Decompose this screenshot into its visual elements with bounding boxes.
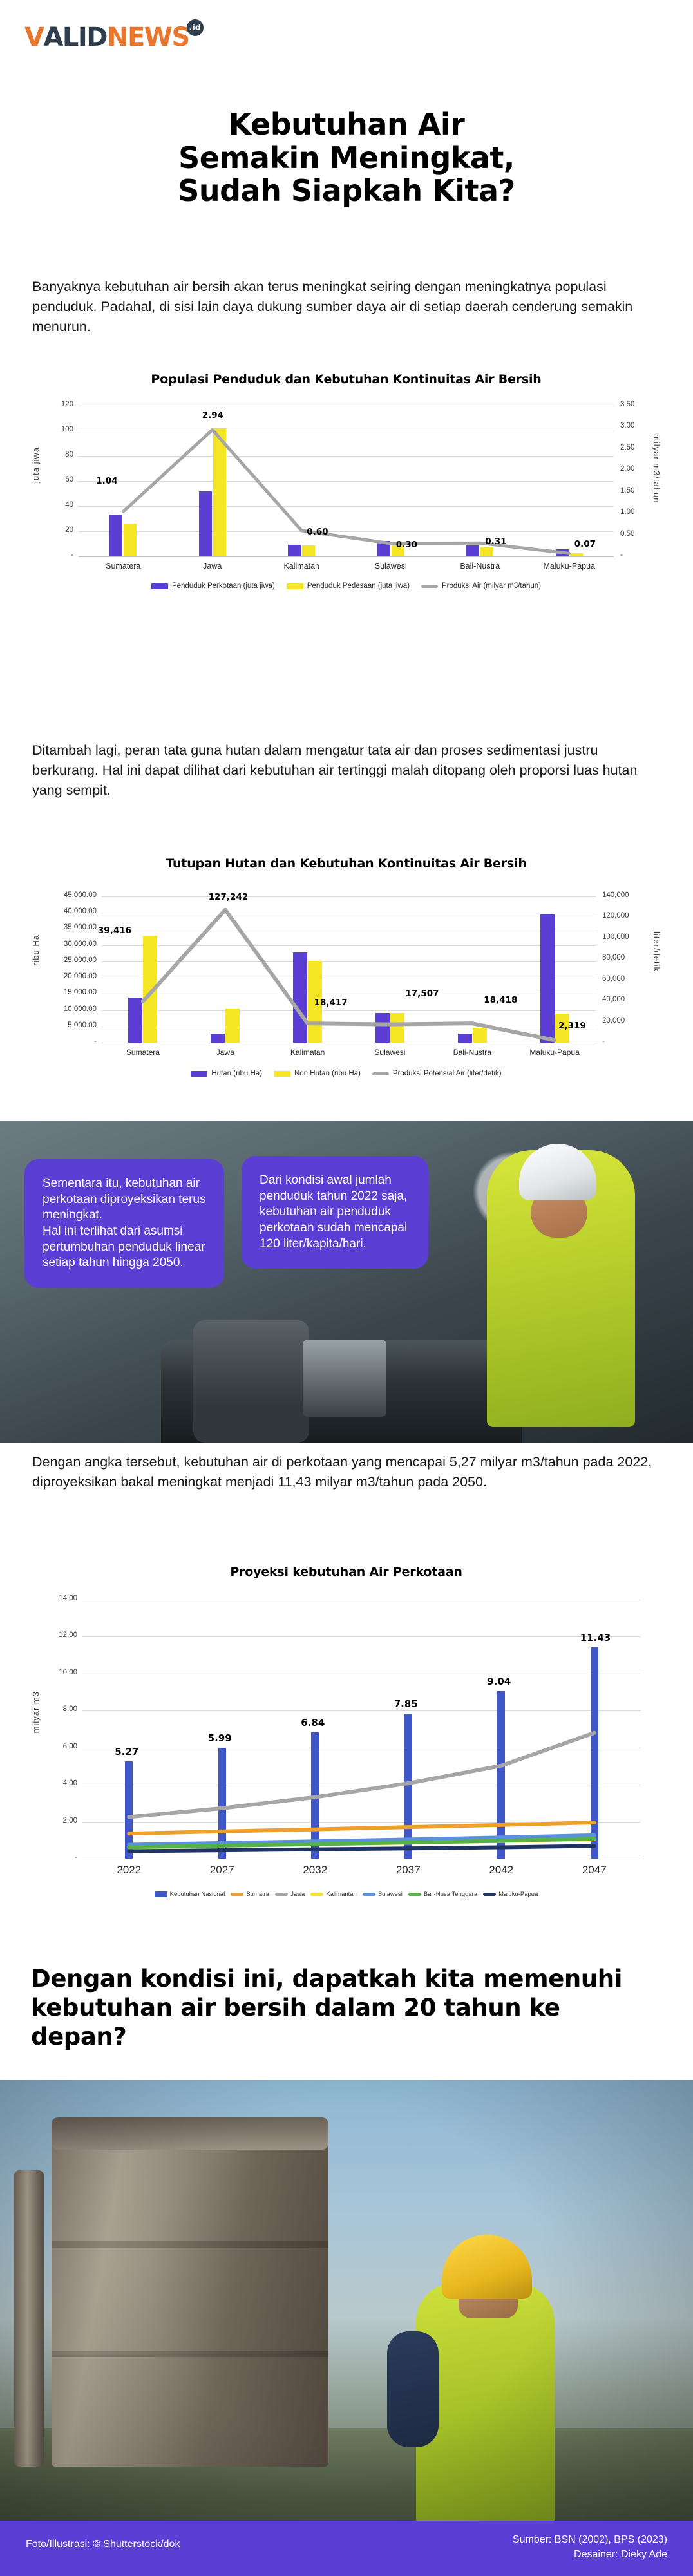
- data-point-label: 18,417: [314, 998, 348, 1008]
- chart-line-layer: [32, 1588, 660, 1884]
- data-point-label: 17,507: [405, 989, 439, 999]
- chart3-plot-area: milyar m3 14.0012.0010.008.006.004.002.0…: [32, 1588, 660, 1884]
- legend-label: Penduduk Perkotaan (juta jiwa): [172, 582, 275, 590]
- chart2-title: Tutupan Hutan dan Kebutuhan Kontinuitas …: [32, 857, 660, 871]
- legend-swatch: [231, 1893, 243, 1896]
- data-point-label: 0.30: [396, 540, 417, 550]
- legend-item[interactable]: Sumatra: [231, 1891, 269, 1898]
- data-point-label: 0.31: [485, 536, 506, 547]
- legend-item[interactable]: Bali-Nusa Tenggara: [408, 1891, 477, 1898]
- chart-line-layer: [32, 880, 660, 1063]
- validnews-logo[interactable]: VALIDNEWS .id: [24, 24, 204, 50]
- closing-question: Dengan kondisi ini, dapatkah kita memenu…: [31, 1964, 662, 2051]
- x-axis-label: Maluku-Papua: [516, 1048, 593, 1057]
- legend-label: Sumatra: [246, 1891, 269, 1898]
- legend-item[interactable]: Penduduk Pedesaan (juta jiwa): [287, 582, 410, 590]
- legend-item[interactable]: Jawa: [275, 1891, 305, 1898]
- legend-label: Kebutuhan Nasional: [170, 1891, 225, 1898]
- legend-label: Maluku-Papua: [498, 1891, 538, 1898]
- legend-swatch: [363, 1893, 375, 1896]
- legend-label: Bali-Nusa Tenggara: [424, 1891, 477, 1898]
- x-axis-label: 2047: [556, 1864, 633, 1877]
- legend-label: Produksi Potensial Air (liter/detik): [393, 1070, 502, 1077]
- legend-label: Kalimantan: [326, 1891, 357, 1898]
- x-axis-label: Sulawesi: [352, 562, 430, 571]
- photo-credit: Foto/Illustrasi: © Shutterstock/dok: [26, 2539, 180, 2550]
- legend-swatch: [191, 1071, 207, 1077]
- legend-label: Non Hutan (ribu Ha): [294, 1070, 361, 1077]
- footer-bar: Foto/Illustrasi: © Shutterstock/dok Sumb…: [0, 2521, 693, 2576]
- x-axis-label: Sulawesi: [351, 1048, 428, 1057]
- chart1-legend: Penduduk Perkotaan (juta jiwa)Penduduk P…: [32, 582, 660, 590]
- x-axis-label: Sumatera: [104, 1048, 182, 1057]
- data-point-label: 0.60: [307, 527, 328, 537]
- chart1-title: Populasi Penduduk dan Kebutuhan Kontinui…: [32, 372, 660, 386]
- chart-line-series: [143, 910, 555, 1041]
- bar-value-label: 11.43: [580, 1632, 611, 1643]
- chart-line-layer: [32, 395, 660, 576]
- legend-swatch: [421, 585, 438, 588]
- logo-letter-v: V: [24, 24, 43, 50]
- legend-item[interactable]: Kebutuhan Nasional: [155, 1891, 225, 1898]
- legend-swatch: [155, 1891, 167, 1897]
- chart3-legend: Kebutuhan NasionalSumatraJawaKalimantanS…: [32, 1891, 660, 1898]
- legend-swatch: [408, 1893, 421, 1896]
- legend-item[interactable]: Non Hutan (ribu Ha): [274, 1070, 361, 1077]
- legend-item[interactable]: Produksi Potensial Air (liter/detik): [372, 1070, 502, 1077]
- x-axis-label: Bali-Nustra: [441, 562, 518, 571]
- legend-swatch: [274, 1071, 290, 1077]
- data-point-label: 1.04: [96, 476, 117, 486]
- x-axis-label: Kalimatan: [263, 562, 340, 571]
- legend-swatch: [275, 1893, 288, 1896]
- x-axis-label: Jawa: [187, 1048, 264, 1057]
- legend-swatch: [151, 583, 168, 589]
- legend-item[interactable]: Penduduk Perkotaan (juta jiwa): [151, 582, 275, 590]
- chart-proyeksi-air-perkotaan: Proyeksi kebutuhan Air Perkotaan milyar …: [32, 1565, 660, 1898]
- callout-section: Sementara itu, kebutuhan air perkotaan d…: [0, 1121, 693, 1443]
- intro-paragraph: Banyaknya kebutuhan air bersih akan teru…: [32, 277, 660, 337]
- chart2-legend: Hutan (ribu Ha)Non Hutan (ribu Ha)Produk…: [32, 1070, 660, 1077]
- chart-line-series: [123, 430, 569, 553]
- data-point-label: 0.07: [574, 539, 596, 549]
- designer-text: Desainer: Dieky Ade: [513, 2547, 667, 2562]
- bar-value-label: 5.99: [208, 1732, 232, 1744]
- page-title: Kebutuhan Air Semakin Meningkat, Sudah S…: [31, 108, 662, 208]
- legend-item[interactable]: Hutan (ribu Ha): [191, 1070, 262, 1077]
- bottom-photo-water-tank: [0, 2080, 693, 2576]
- callout-box-1: Sementara itu, kebutuhan air perkotaan d…: [24, 1159, 224, 1288]
- legend-label: Penduduk Pedesaan (juta jiwa): [307, 582, 410, 590]
- x-axis-label: 2042: [462, 1864, 540, 1877]
- legend-label: Sulawesi: [378, 1891, 403, 1898]
- bar-value-label: 7.85: [394, 1698, 418, 1710]
- bar-value-label: 5.27: [115, 1746, 138, 1757]
- second-paragraph: Ditambah lagi, peran tata guna hutan dal…: [32, 741, 660, 801]
- x-axis-label: 2027: [184, 1864, 261, 1877]
- x-axis-label: Sumatera: [84, 562, 162, 571]
- logo-text-alid: ALID: [43, 24, 107, 50]
- source-text: Sumber: BSN (2002), BPS (2023): [513, 2532, 667, 2547]
- data-point-label: 2,319: [558, 1021, 586, 1031]
- legend-label: Produksi Air (milyar m3/tahun): [442, 582, 541, 590]
- callout-box-2: Dari kondisi awal jumlah penduduk tahun …: [242, 1156, 428, 1269]
- x-axis-label: 2037: [370, 1864, 447, 1877]
- legend-item[interactable]: Sulawesi: [363, 1891, 403, 1898]
- chart2-plot-area: ribu Ha liter/detik 45,000.0040,000.0035…: [32, 880, 660, 1063]
- legend-item[interactable]: Produksi Air (milyar m3/tahun): [421, 582, 541, 590]
- bar-value-label: 9.04: [487, 1676, 511, 1687]
- legend-item[interactable]: Maluku-Papua: [483, 1891, 538, 1898]
- bar-value-label: 6.84: [301, 1717, 325, 1728]
- data-point-label: 18,418: [484, 995, 517, 1005]
- legend-item[interactable]: Kalimantan: [310, 1891, 357, 1898]
- chart1-plot-area: juta jiwa milyar m3/tahun 12010080604020…: [32, 395, 660, 576]
- legend-swatch: [287, 583, 303, 589]
- legend-swatch: [372, 1072, 389, 1075]
- footer-source-block: Sumber: BSN (2002), BPS (2023) Desainer:…: [513, 2532, 667, 2562]
- legend-label: Hutan (ribu Ha): [211, 1070, 262, 1077]
- x-axis-label: Kalimatan: [269, 1048, 346, 1057]
- legend-swatch: [483, 1893, 496, 1896]
- x-axis-label: Jawa: [174, 562, 251, 571]
- photo-pipe-flange: [303, 1340, 386, 1417]
- chart3-title: Proyeksi kebutuhan Air Perkotaan: [32, 1565, 660, 1579]
- x-axis-label: 2022: [90, 1864, 167, 1877]
- legend-swatch: [310, 1893, 323, 1896]
- logo-text-news: NEWS: [107, 24, 189, 50]
- chart-tutupan-hutan: Tutupan Hutan dan Kebutuhan Kontinuitas …: [32, 857, 660, 1077]
- logo-id-badge: .id: [187, 19, 204, 36]
- infographic-page: VALIDNEWS .id Kebutuhan Air Semakin Meni…: [0, 0, 693, 2576]
- data-point-label: 2.94: [202, 410, 223, 421]
- third-paragraph: Dengan angka tersebut, kebutuhan air di …: [32, 1452, 660, 1492]
- photo-pipe-secondary: [193, 1320, 309, 1443]
- legend-label: Jawa: [290, 1891, 305, 1898]
- data-point-label: 127,242: [209, 892, 249, 902]
- chart-line-series: [129, 1733, 594, 1817]
- photo-vignette: [0, 2080, 693, 2576]
- x-axis-label: Bali-Nustra: [433, 1048, 511, 1057]
- x-axis-label: 2032: [276, 1864, 354, 1877]
- data-point-label: 39,416: [98, 925, 131, 936]
- chart-line-series: [129, 1823, 594, 1833]
- x-axis-label: Maluku-Papua: [531, 562, 608, 571]
- chart-populasi-penduduk: Populasi Penduduk dan Kebutuhan Kontinui…: [32, 372, 660, 590]
